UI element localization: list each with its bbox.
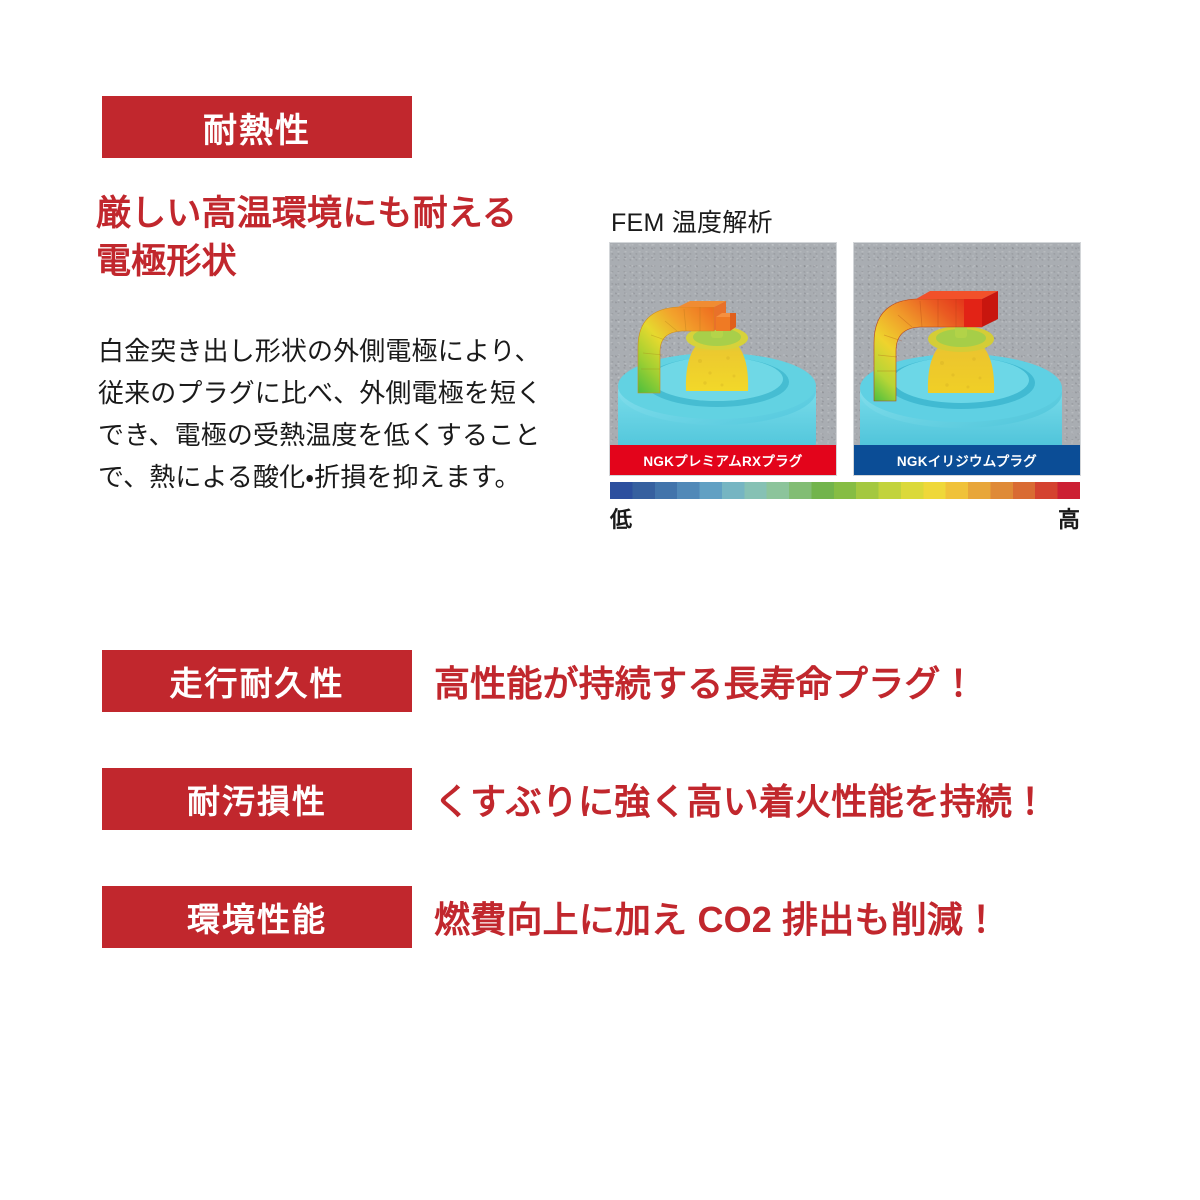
- section-body-heat-resistance: 白金突き出し形状の外側電極により、 従来のプラグに比べ、外側電極を短く でき、電…: [98, 330, 578, 498]
- section-badge-heat-resistance: 耐熱性: [102, 96, 412, 158]
- feature-row-driving-durability: 走行耐久性 高性能が持続する長寿命プラグ！: [102, 650, 1102, 712]
- temperature-scale-bar: [610, 482, 1080, 499]
- infographic-page: 耐熱性 厳しい高温環境にも耐える 電極形状 白金突き出し形状の外側電極により、 …: [0, 0, 1200, 1200]
- fem-panel-group: NGKプレミアムRXプラグ: [610, 243, 1080, 475]
- feature-text-fouling-resistance: くすぶりに強く高い着火性能を持続！: [434, 773, 1048, 825]
- fem-analysis-title: FEM 温度解析: [611, 203, 773, 239]
- body-line-3: でき、電極の受熱温度を低くすること: [98, 414, 578, 456]
- body-line-2: 従来のプラグに比べ、外側電極を短く: [98, 372, 578, 414]
- scale-label-low: 低: [610, 502, 632, 534]
- heading-line-1: 厳しい高温環境にも耐える: [96, 190, 596, 238]
- feature-badge-driving-durability: 走行耐久性: [102, 650, 412, 712]
- feature-row-environmental-performance: 環境性能 燃費向上に加え CO2 排出も削減！: [102, 886, 1102, 948]
- fem-panel-iridium: NGKイリジウムプラグ: [854, 243, 1080, 475]
- feature-text-environmental-performance: 燃費向上に加え CO2 排出も削減！: [434, 891, 999, 943]
- body-line-1: 白金突き出し形状の外側電極により、: [98, 330, 578, 372]
- feature-row-fouling-resistance: 耐汚損性 くすぶりに強く高い着火性能を持続！: [102, 768, 1102, 830]
- fem-caption-premium-rx: NGKプレミアムRXプラグ: [610, 445, 836, 475]
- temperature-scale-labels: 低 高: [610, 502, 1080, 528]
- scale-label-high: 高: [1058, 502, 1080, 534]
- fem-caption-iridium: NGKイリジウムプラグ: [854, 445, 1080, 475]
- feature-badge-environmental-performance: 環境性能: [102, 886, 412, 948]
- body-line-4: で、熱による酸化・折損を抑えます。: [98, 456, 578, 498]
- fem-thermal-render-iridium: [854, 243, 1080, 475]
- feature-text-driving-durability: 高性能が持続する長寿命プラグ！: [434, 655, 977, 707]
- fem-panel-premium-rx: NGKプレミアムRXプラグ: [610, 243, 836, 475]
- fem-thermal-render-premium-rx: [610, 243, 836, 475]
- heading-line-2: 電極形状: [96, 238, 596, 286]
- feature-badge-fouling-resistance: 耐汚損性: [102, 768, 412, 830]
- section-heading-heat-resistance: 厳しい高温環境にも耐える 電極形状: [96, 190, 596, 287]
